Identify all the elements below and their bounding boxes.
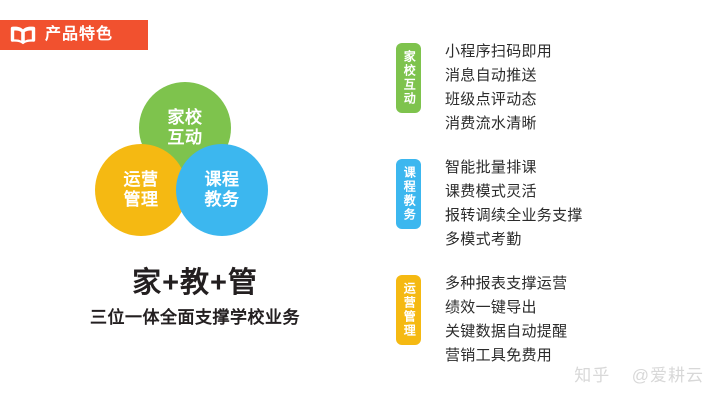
- feature-item: 营销工具免费用: [445, 344, 567, 368]
- watermark: 知乎 @爱耕云: [574, 361, 704, 386]
- feature-group-curriculum: 课程教务 智能批量排课 课费模式灵活 报转调续全业务支撑 多模式考勤: [396, 156, 686, 252]
- venn-diagram: 家校 互动 运营 管理 课程 教务: [95, 82, 280, 252]
- feature-group-operations: 运营管理 多种报表支撑运营 绩效一键导出 关键数据自动提醒 营销工具免费用: [396, 272, 686, 368]
- feature-group-home-school: 家校互动 小程序扫码即用 消息自动推送 班级点评动态 消费流水清晰: [396, 40, 686, 136]
- watermark-account: @爱耕云: [632, 366, 704, 385]
- venn-circle-label: 课程 教务: [205, 170, 240, 209]
- venn-circle-curriculum: 课程 教务: [176, 144, 268, 236]
- feature-item: 小程序扫码即用: [445, 40, 552, 64]
- headline-main: 家+教+管: [60, 268, 330, 300]
- venn-circle-label: 家校 互动: [168, 108, 203, 147]
- feature-list-curriculum: 智能批量排课 课费模式灵活 报转调续全业务支撑 多模式考勤: [421, 156, 583, 252]
- feature-tab-operations: 运营管理: [396, 275, 421, 345]
- venn-circle-label: 运营 管理: [124, 170, 159, 209]
- feature-tab-curriculum: 课程教务: [396, 159, 421, 229]
- headline-block: 家+教+管 三位一体全面支撑学校业务: [60, 268, 330, 328]
- watermark-platform: 知乎: [574, 366, 610, 385]
- venn-circle-operations: 运营 管理: [95, 144, 187, 236]
- feature-groups: 家校互动 小程序扫码即用 消息自动推送 班级点评动态 消费流水清晰 课程教务 智…: [396, 40, 686, 388]
- feature-item: 绩效一键导出: [445, 296, 567, 320]
- feature-item: 智能批量排课: [445, 156, 583, 180]
- feature-item: 报转调续全业务支撑: [445, 204, 583, 228]
- feature-item: 多种报表支撑运营: [445, 272, 567, 296]
- open-book-icon: [9, 25, 37, 45]
- headline-sub: 三位一体全面支撑学校业务: [60, 308, 330, 328]
- feature-item: 多模式考勤: [445, 228, 583, 252]
- feature-item: 消息自动推送: [445, 64, 552, 88]
- feature-item: 课费模式灵活: [445, 180, 583, 204]
- badge-title: 产品特色: [45, 27, 113, 43]
- feature-item: 班级点评动态: [445, 88, 552, 112]
- feature-item: 消费流水清晰: [445, 112, 552, 136]
- product-features-badge: 产品特色: [0, 20, 148, 50]
- feature-tab-home-school: 家校互动: [396, 43, 421, 113]
- feature-list-home-school: 小程序扫码即用 消息自动推送 班级点评动态 消费流水清晰: [421, 40, 552, 136]
- feature-list-operations: 多种报表支撑运营 绩效一键导出 关键数据自动提醒 营销工具免费用: [421, 272, 567, 368]
- feature-item: 关键数据自动提醒: [445, 320, 567, 344]
